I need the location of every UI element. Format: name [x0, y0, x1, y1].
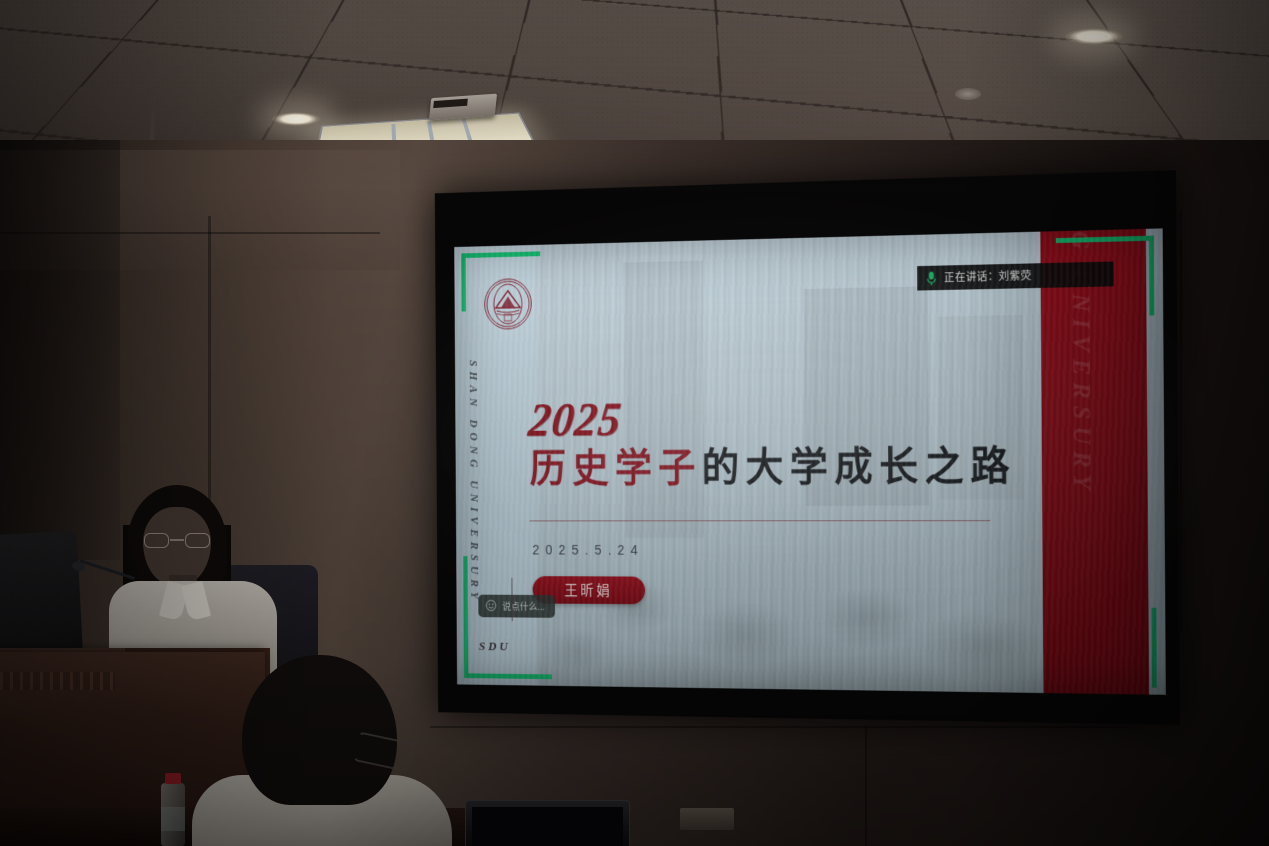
water-bottle: [160, 773, 186, 846]
projection-screen[interactable]: SHAN DONG UNIVERSURY: [435, 170, 1180, 725]
audience-member: [200, 655, 490, 846]
presenter-glasses: [143, 533, 211, 549]
presentation-slide: SHAN DONG UNIVERSURY: [454, 228, 1166, 694]
downlight-left: [272, 112, 320, 126]
water-bottle-cap: [165, 773, 181, 784]
slide-title-divider: [530, 520, 990, 522]
wall-seam-lower-vertical: [865, 726, 867, 846]
slide-presenter-name-label: 王昕娟: [564, 580, 612, 600]
slide-footer-mark: SDU: [479, 639, 511, 654]
slide-title-black-part: 的大学成长之路: [702, 442, 1017, 490]
microphone-icon: [926, 270, 937, 285]
slide-side-vertical-text: SHAN DONG UNIVERSURY: [466, 360, 481, 604]
water-bottle-label: [161, 807, 185, 831]
corner-accent-bottom-right: [1097, 607, 1157, 687]
laptop: [465, 800, 630, 846]
wall-seam-right: [1180, 210, 1182, 630]
slide-text-block: 2025 历史学子的大学成长之路 2025.5.24 王昕娟: [518, 231, 1072, 694]
wall-seam-below-screen: [430, 726, 1130, 728]
tissue-box: [680, 808, 734, 830]
podium-trim: [0, 672, 115, 690]
comment-input-pill[interactable]: 说点什么...: [478, 594, 554, 617]
slide-title-red-part: 历史学子: [530, 445, 702, 492]
slide-main-title: 历史学子的大学成长之路: [530, 446, 1017, 488]
downlight-right: [1065, 28, 1123, 45]
slide-date: 2025.5.24: [532, 542, 644, 557]
slide-year: 2025: [526, 391, 624, 447]
screen-surface[interactable]: SHAN DONG UNIVERSURY: [454, 228, 1166, 694]
ceiling-sensor: [955, 88, 981, 100]
active-speaker-label: 正在讲话：刘紫荧: [944, 268, 1032, 286]
lecture-room-photo: SHAN DONG UNIVERSURY: [0, 0, 1269, 846]
wall-shadow-left: [0, 140, 120, 560]
audience-head: [242, 655, 397, 805]
active-speaker-toast: 正在讲话：刘紫荧: [917, 261, 1114, 290]
emoji-smile-icon[interactable]: [485, 599, 496, 611]
comment-input-placeholder[interactable]: 说点什么...: [502, 599, 545, 613]
podium-monitor: [0, 531, 83, 664]
